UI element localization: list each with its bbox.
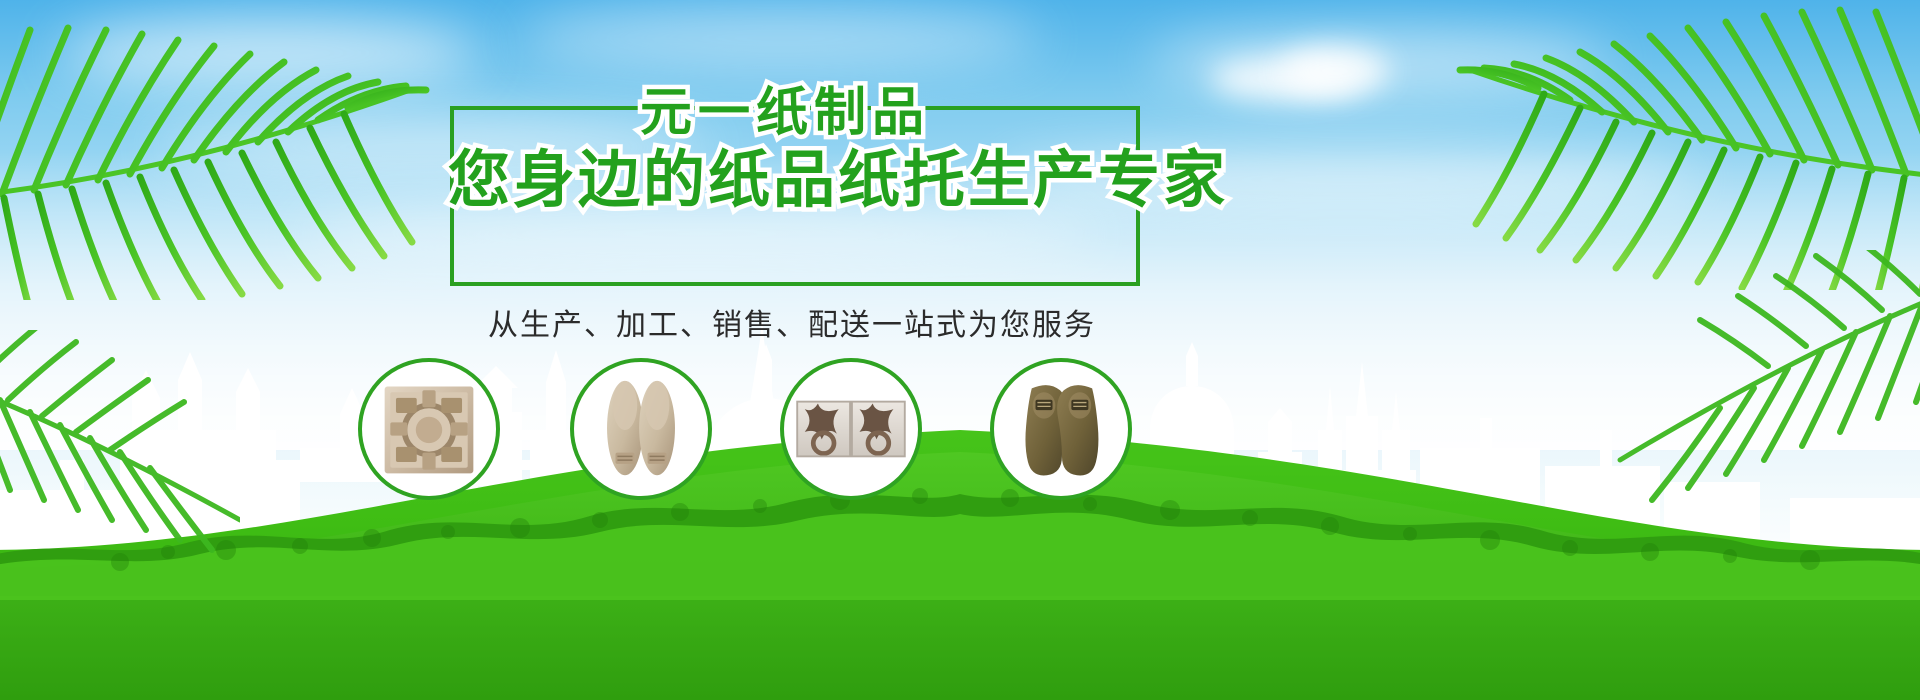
- product-circle-3[interactable]: [780, 358, 922, 500]
- green-grass-hill: [0, 300, 1920, 700]
- product-circle-4[interactable]: [990, 358, 1132, 500]
- cloud-icon: [60, 18, 480, 88]
- headline-line-1: 元一纸制品: [640, 84, 930, 142]
- headline-block: 元一纸制品 您身边的纸品纸托生产专家: [440, 78, 1160, 293]
- molded-pulp-tray-square: [362, 362, 496, 496]
- product-circle-2[interactable]: [570, 358, 712, 500]
- hero-banner: 元一纸制品 您身边的纸品纸托生产专家 从生产、加工、销售、配送一站式为您服务: [0, 0, 1920, 700]
- subtitle-text: 从生产、加工、销售、配送一站式为您服务: [488, 300, 1096, 344]
- molded-pulp-shoe-trees-dark: [994, 362, 1128, 496]
- headline-line-2: 您身边的纸品纸托生产专家: [448, 146, 1228, 216]
- cloud-icon: [1150, 30, 1610, 94]
- molded-pulp-packaging-pair: [784, 362, 918, 496]
- cloud-icon: [520, 8, 1040, 68]
- product-circle-1[interactable]: [358, 358, 500, 500]
- molded-pulp-shoe-inserts-pair: [574, 362, 708, 496]
